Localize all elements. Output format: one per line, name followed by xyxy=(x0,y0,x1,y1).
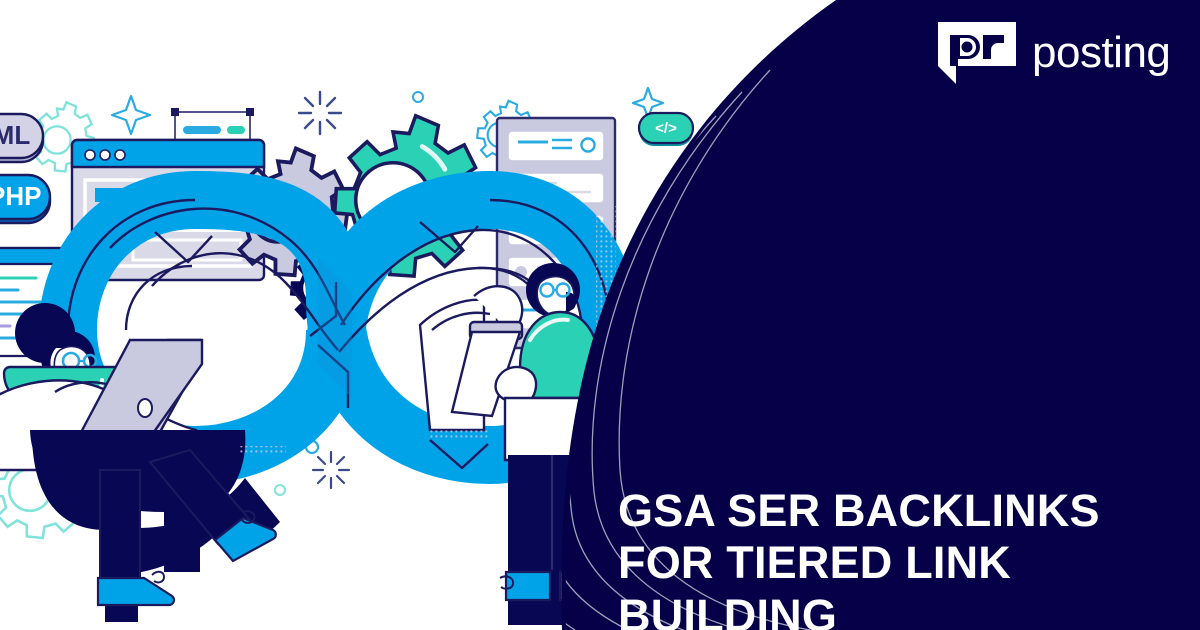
brand-logo[interactable]: posting xyxy=(938,22,1178,84)
brand-wordmark: posting xyxy=(1032,31,1170,75)
page-title: GSA SER BACKLINKS FOR TIERED LINK BUILDI… xyxy=(618,485,1158,630)
banner-root: HTML PHP xyxy=(0,0,1200,630)
pr-speech-bubble-logo-icon xyxy=(938,22,1016,84)
